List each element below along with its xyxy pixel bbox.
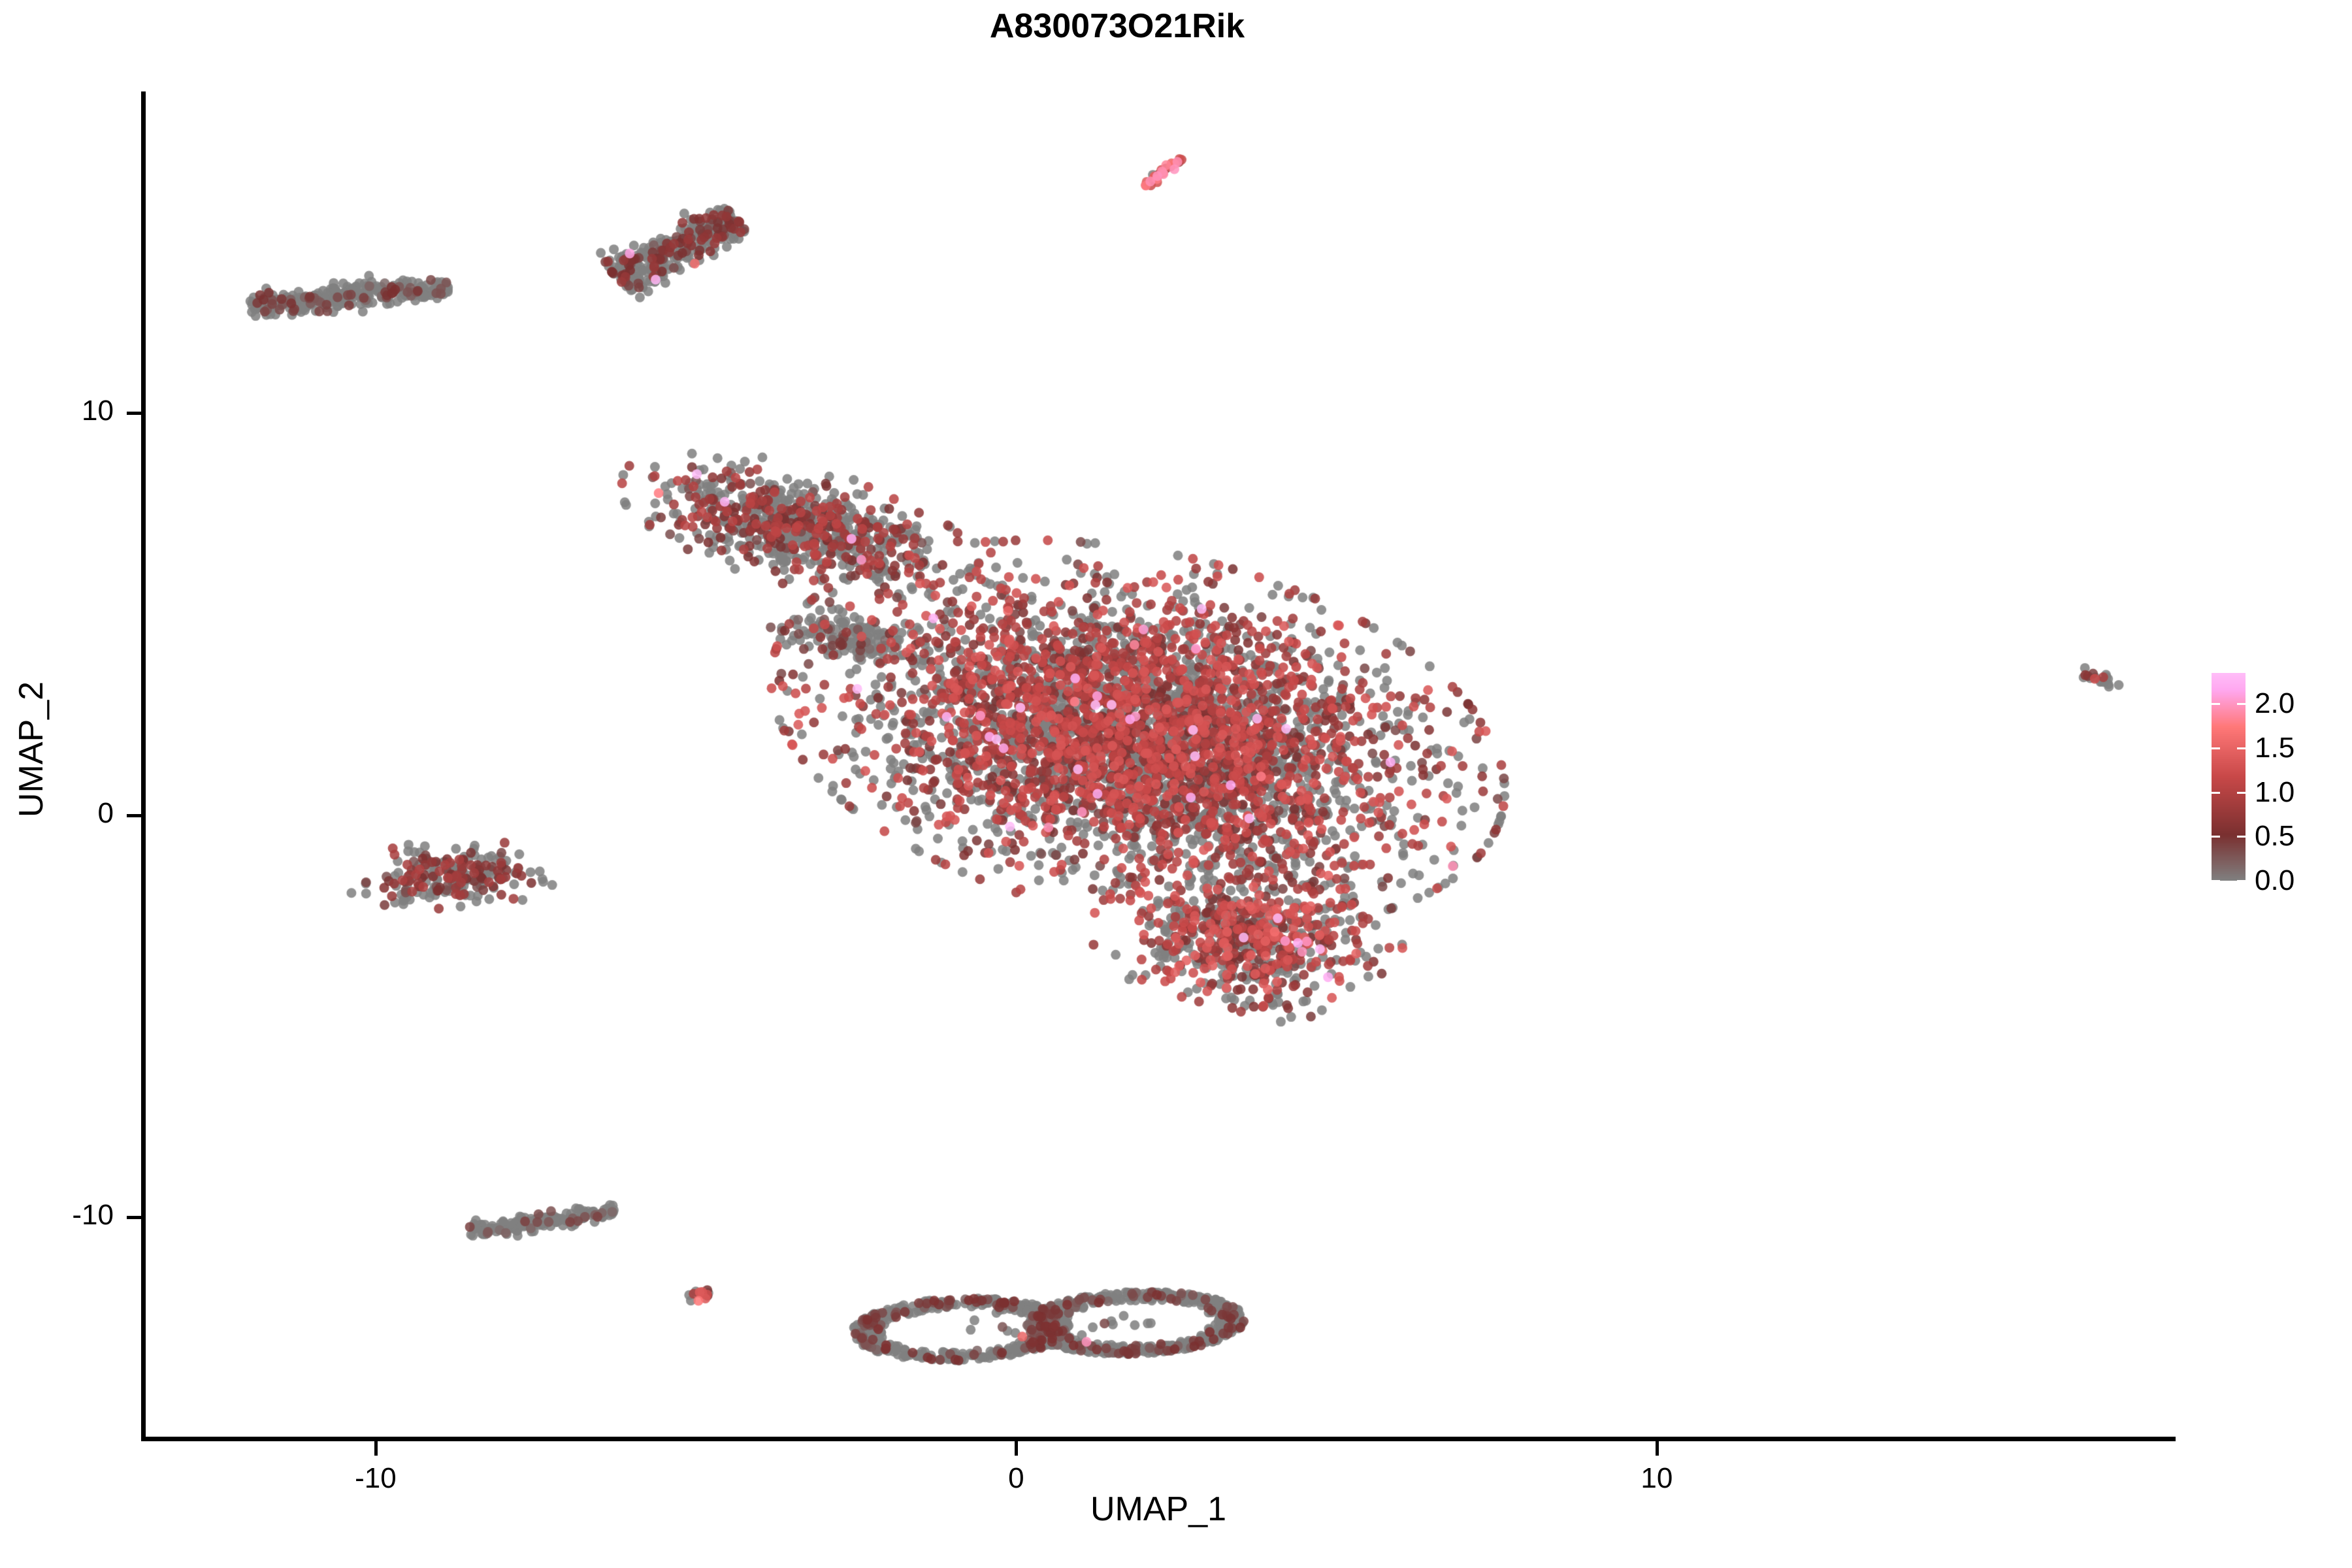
y-tick-mark	[127, 1216, 141, 1219]
plot-panel	[145, 91, 2176, 1439]
y-tick-mark	[127, 412, 141, 415]
umap-feature-plot: A830073O21Rik 100-10 -10010 UMAP_1 UMAP_…	[0, 0, 2352, 1568]
y-tick-label: 10	[82, 395, 114, 427]
legend-tick-label: 0.0	[2255, 864, 2295, 897]
legend-tick-mark	[2212, 836, 2220, 838]
y-axis-line	[141, 91, 146, 1441]
page-title: A830073O21Rik	[0, 7, 2234, 46]
x-tick-mark	[1015, 1441, 1018, 1456]
legend-tick-label: 0.5	[2255, 820, 2295, 853]
x-tick-mark	[374, 1441, 378, 1456]
x-axis-line	[141, 1437, 2176, 1441]
color-legend: 2.01.51.00.50.0	[2212, 673, 2246, 881]
legend-tick-mark	[2212, 747, 2220, 749]
legend-tick-mark	[2237, 836, 2246, 838]
y-axis-label: UMAP_2	[12, 423, 51, 1076]
legend-tick-mark	[2212, 792, 2220, 794]
legend-tick-label: 1.5	[2255, 732, 2295, 764]
legend-tick-mark	[2212, 703, 2220, 705]
scatter-plot-canvas	[145, 91, 2176, 1439]
x-tick-mark	[1656, 1441, 1659, 1456]
y-tick-label: -10	[72, 1199, 114, 1232]
legend-tick-mark	[2237, 880, 2246, 882]
legend-tick-mark	[2237, 747, 2246, 749]
legend-tick-mark	[2237, 703, 2246, 705]
legend-tick-mark	[2237, 792, 2246, 794]
y-tick-mark	[127, 814, 141, 817]
y-tick-label: 0	[98, 797, 114, 830]
legend-tick-mark	[2212, 880, 2220, 882]
x-axis-label: UMAP_1	[141, 1490, 2176, 1529]
legend-tick-label: 1.0	[2255, 776, 2295, 809]
legend-tick-label: 2.0	[2255, 687, 2295, 720]
